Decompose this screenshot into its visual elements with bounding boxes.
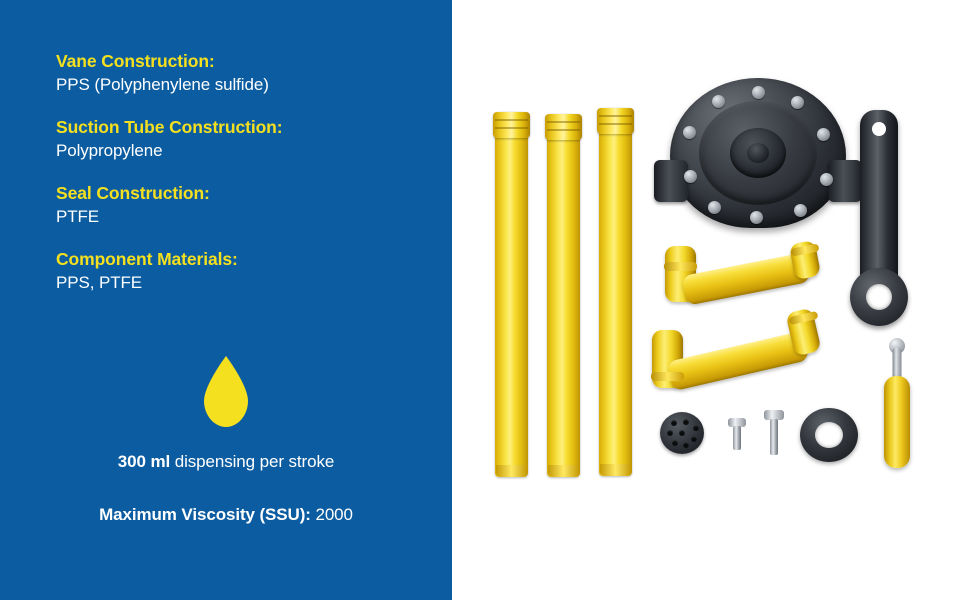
cap-ring xyxy=(800,408,858,462)
pump-bolt xyxy=(794,204,807,217)
specs-panel: Vane Construction: PPS (Polyphenylene su… xyxy=(0,0,452,600)
spec-value: Polypropylene xyxy=(56,139,426,163)
product-spec-banner: Vane Construction: PPS (Polyphenylene su… xyxy=(0,0,970,600)
pump-inlet-port xyxy=(654,160,688,202)
dispensing-rate: 300 ml dispensing per stroke xyxy=(0,452,452,472)
viscosity-label: Maximum Viscosity (SSU): xyxy=(99,505,311,524)
spec-label: Suction Tube Construction: xyxy=(56,116,426,139)
pump-bolt xyxy=(820,173,833,186)
spec-label: Seal Construction: xyxy=(56,182,426,205)
pump-bolt xyxy=(791,96,804,109)
pump-bolt xyxy=(817,128,830,141)
pump-bolt xyxy=(683,126,696,139)
elbow-spout-lower xyxy=(652,312,832,392)
spec-value: PPS, PTFE xyxy=(56,271,426,295)
spec-label: Vane Construction: xyxy=(56,50,426,73)
spec-label: Component Materials: xyxy=(56,248,426,271)
pump-hub xyxy=(730,128,786,178)
pump-outlet-port xyxy=(828,160,862,202)
pump-bolt xyxy=(752,86,765,99)
suction-tube-3 xyxy=(599,108,632,476)
product-image-panel xyxy=(452,0,959,600)
spec-item-vane-construction: Vane Construction: PPS (Polyphenylene su… xyxy=(56,50,426,97)
suction-tube-1 xyxy=(495,112,528,477)
handle-grip xyxy=(884,338,910,468)
pump-bolt xyxy=(712,95,725,108)
pump-body xyxy=(670,78,846,228)
max-viscosity: Maximum Viscosity (SSU): 2000 xyxy=(0,505,452,525)
dispensing-amount: 300 ml xyxy=(118,452,170,471)
dispensing-suffix: dispensing per stroke xyxy=(170,452,334,471)
suction-tube-2 xyxy=(547,114,580,477)
elbow-spout-upper xyxy=(665,246,825,308)
pump-bolt xyxy=(684,170,697,183)
oil-drop-icon xyxy=(198,355,254,429)
spec-list: Vane Construction: PPS (Polyphenylene su… xyxy=(56,50,426,314)
spec-item-seal-construction: Seal Construction: PTFE xyxy=(56,182,426,229)
spec-value: PTFE xyxy=(56,205,426,229)
spec-item-suction-tube-construction: Suction Tube Construction: Polypropylene xyxy=(56,116,426,163)
lever-top-hole xyxy=(872,122,886,136)
pump-shaft xyxy=(747,143,769,163)
spec-item-component-materials: Component Materials: PPS, PTFE xyxy=(56,248,426,295)
screw-short xyxy=(726,418,748,452)
lever-pivot xyxy=(850,268,908,326)
pump-bolt xyxy=(750,211,763,224)
strainer-disc xyxy=(660,412,704,454)
product-parts-layout xyxy=(452,0,959,600)
screw-long xyxy=(762,410,786,456)
spec-value: PPS (Polyphenylene sulfide) xyxy=(56,73,426,97)
viscosity-value: 2000 xyxy=(311,505,353,524)
pump-bolt xyxy=(708,201,721,214)
oil-drop-icon-wrap xyxy=(0,355,452,429)
